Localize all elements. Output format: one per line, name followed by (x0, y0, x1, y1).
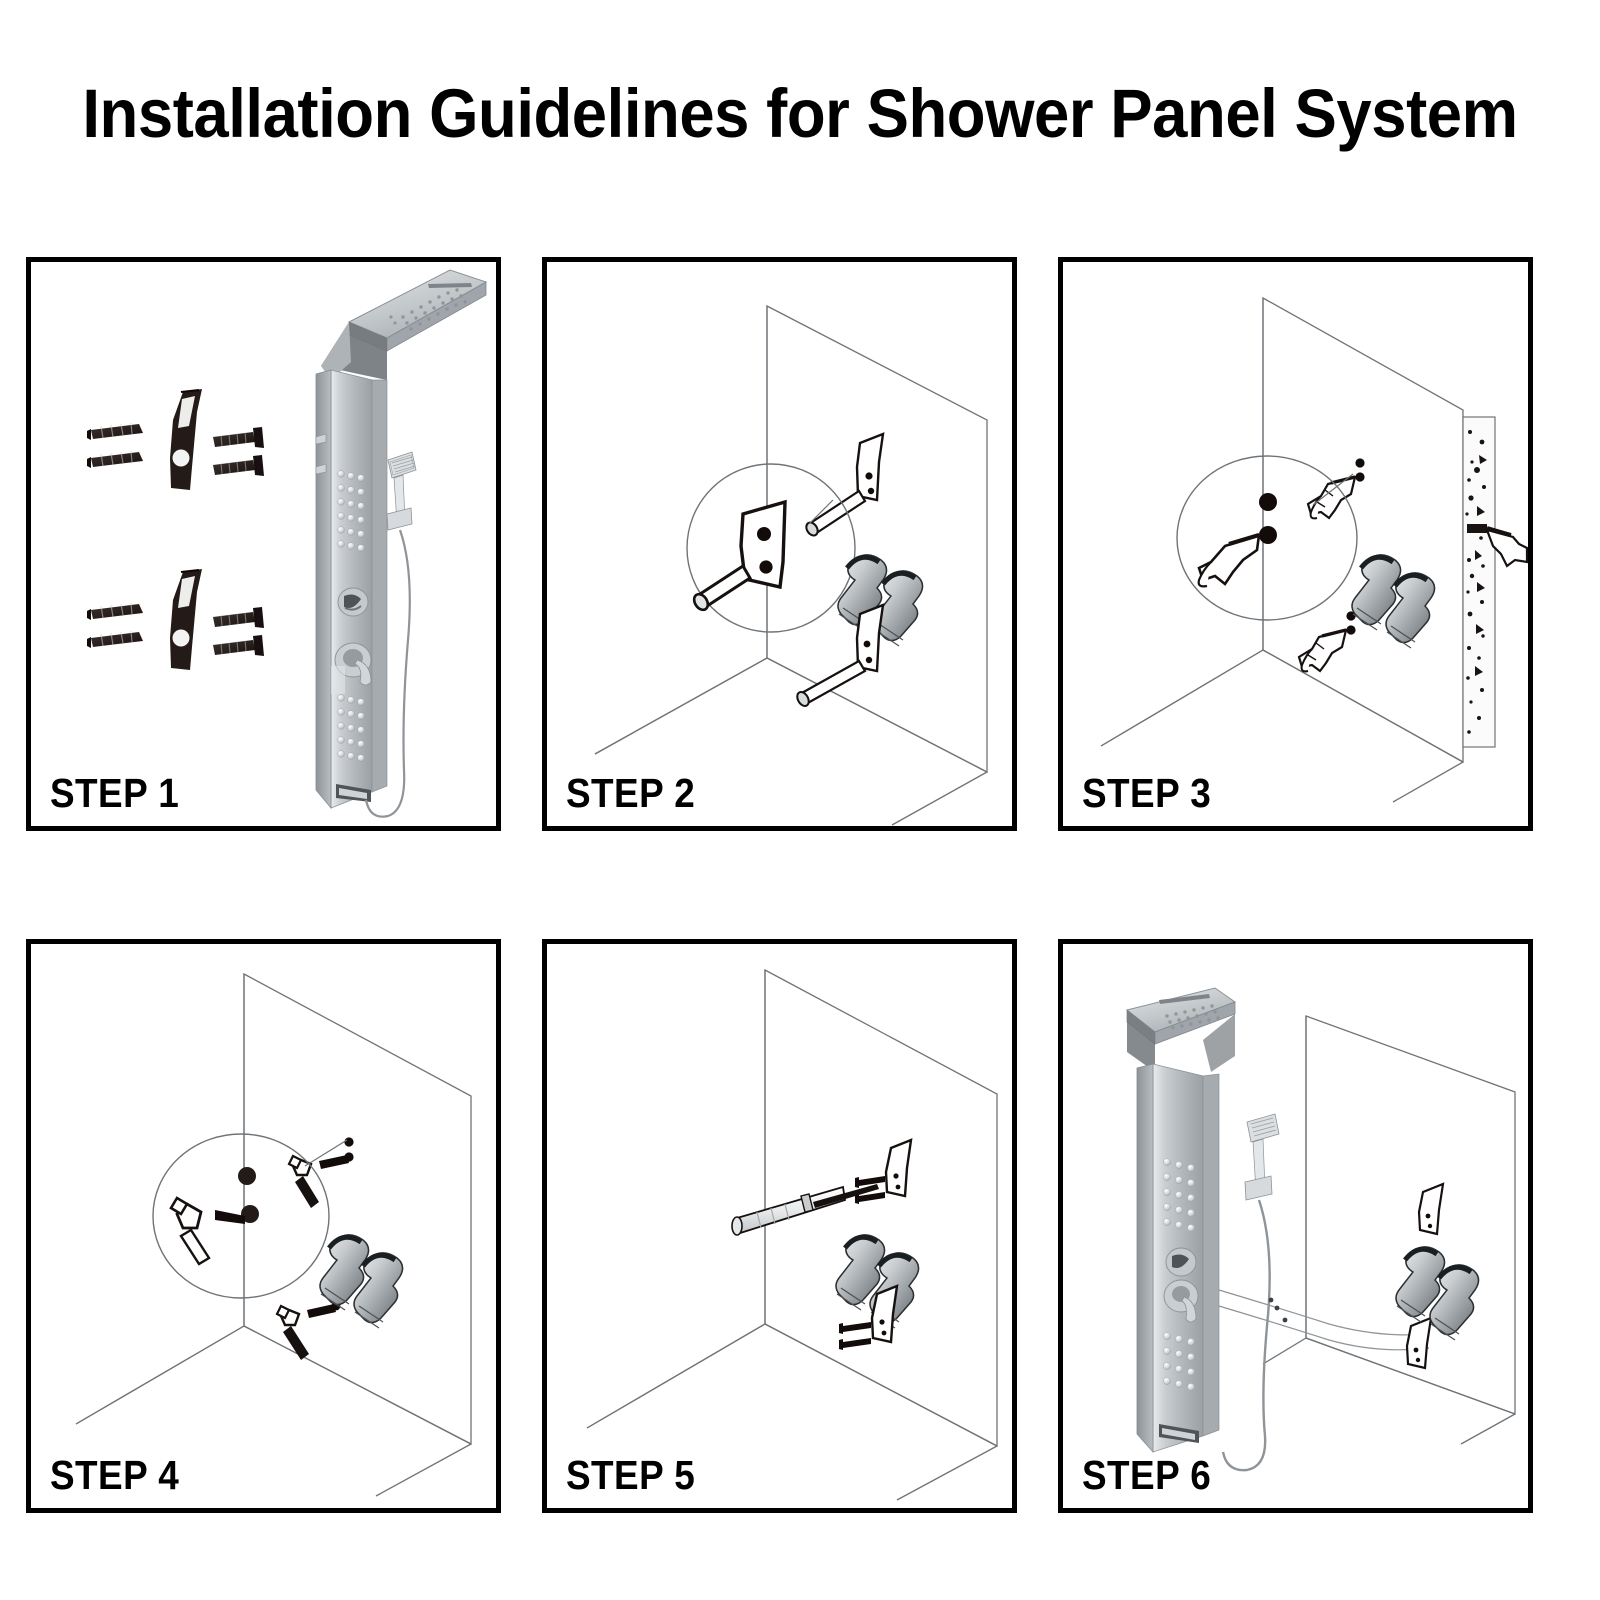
shower-wall-corner (595, 306, 987, 825)
lower-mounting-bracket (872, 1286, 897, 1342)
shower-panel-tower (1127, 988, 1279, 1470)
magnifier-callout-circle (153, 1134, 347, 1298)
page-title: Installation Guidelines for Shower Panel… (64, 72, 1536, 156)
step-5-illustration (547, 944, 1012, 1508)
hammer (289, 1156, 319, 1208)
step-panel-1: STEP 1 (26, 257, 501, 831)
shower-wall-corner (587, 970, 997, 1500)
step-6-illustration (1063, 944, 1528, 1508)
screw (213, 635, 264, 656)
step-panel-6: STEP 6 (1058, 939, 1533, 1513)
shower-wall-corner (1101, 298, 1463, 802)
wall-anchor (87, 451, 143, 468)
shower-wall (1263, 1016, 1515, 1444)
diverter-knob (1166, 1248, 1196, 1276)
step-2-illustration (547, 262, 1012, 826)
wand-holder (1245, 1176, 1272, 1200)
step-panel-3: STEP 3 (1058, 257, 1533, 831)
step-3-illustration (1063, 262, 1528, 826)
drill-hole-mark (1346, 625, 1355, 634)
step-label: STEP 6 (1082, 1452, 1211, 1498)
wall-anchor (319, 1155, 349, 1169)
magnifier-callout-circle (687, 464, 855, 632)
wand-holder (387, 508, 412, 530)
lower-mounting-bracket (1407, 1318, 1431, 1368)
wall-anchor (307, 1304, 336, 1318)
step-label: STEP 4 (50, 1452, 179, 1498)
hardware-set-lower (87, 569, 264, 670)
steps-grid: STEP 1 (26, 257, 1564, 1514)
screw (839, 1322, 871, 1334)
wall-anchor (87, 603, 143, 620)
wall-anchor (87, 631, 143, 648)
screw (213, 607, 264, 628)
hardware-set-upper (87, 389, 264, 490)
step-panel-4: STEP 4 (26, 939, 501, 1513)
step-1-illustration (31, 262, 496, 826)
step-label: STEP 5 (566, 1452, 695, 1498)
shower-panel-tower (316, 270, 486, 817)
step-label: STEP 2 (566, 770, 695, 816)
power-drill (1308, 477, 1355, 518)
drill-hole-mark (1355, 472, 1364, 481)
step-label: STEP 1 (50, 770, 179, 816)
hose (1223, 1200, 1270, 1470)
anchor-hole-mark (344, 1137, 353, 1146)
upper-mounting-bracket (1419, 1184, 1443, 1234)
step-label: STEP 3 (1082, 770, 1211, 816)
lower-mounting-bracket (795, 605, 883, 708)
mounting-bracket-plate (170, 389, 202, 490)
screw (213, 427, 264, 448)
drill-hole-mark (1355, 458, 1364, 467)
diverter-knob (338, 588, 368, 616)
masonry-wall-section (1463, 417, 1527, 747)
screw (213, 455, 264, 476)
upper-mounting-bracket (886, 1140, 911, 1196)
screw (839, 1338, 871, 1350)
mounting-bracket-plate (170, 569, 202, 670)
step-panel-2: STEP 2 (542, 257, 1017, 831)
step-4-illustration (31, 944, 496, 1508)
installation-guide-page: Installation Guidelines for Shower Panel… (0, 0, 1600, 1600)
power-drill (1299, 630, 1346, 671)
upper-mounting-bracket (804, 434, 883, 538)
step-panel-5: STEP 5 (542, 939, 1017, 1513)
screwdriver (732, 1184, 879, 1235)
magnifier-callout-circle (1177, 456, 1357, 620)
shower-wall-corner (76, 974, 471, 1496)
wall-anchor (87, 423, 143, 440)
